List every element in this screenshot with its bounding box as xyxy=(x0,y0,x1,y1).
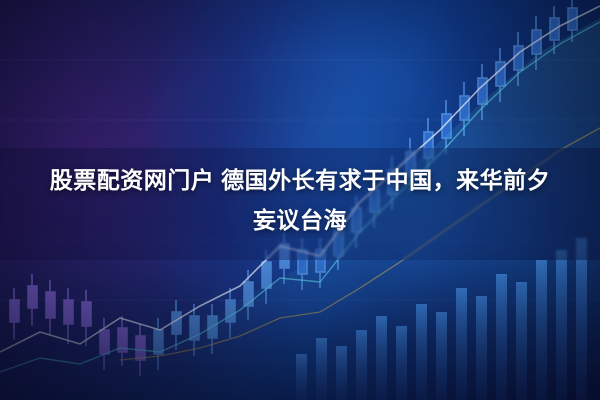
banner-image: 股票配资网门户 德国外长有求于中国，来华前夕 妄议台海 xyxy=(0,0,600,400)
headline-text: 股票配资网门户 德国外长有求于中国，来华前夕 妄议台海 xyxy=(0,160,600,240)
headline-line-1: 股票配资网门户 德国外长有求于中国，来华前夕 xyxy=(16,160,584,200)
headline-line-2: 妄议台海 xyxy=(16,200,584,240)
